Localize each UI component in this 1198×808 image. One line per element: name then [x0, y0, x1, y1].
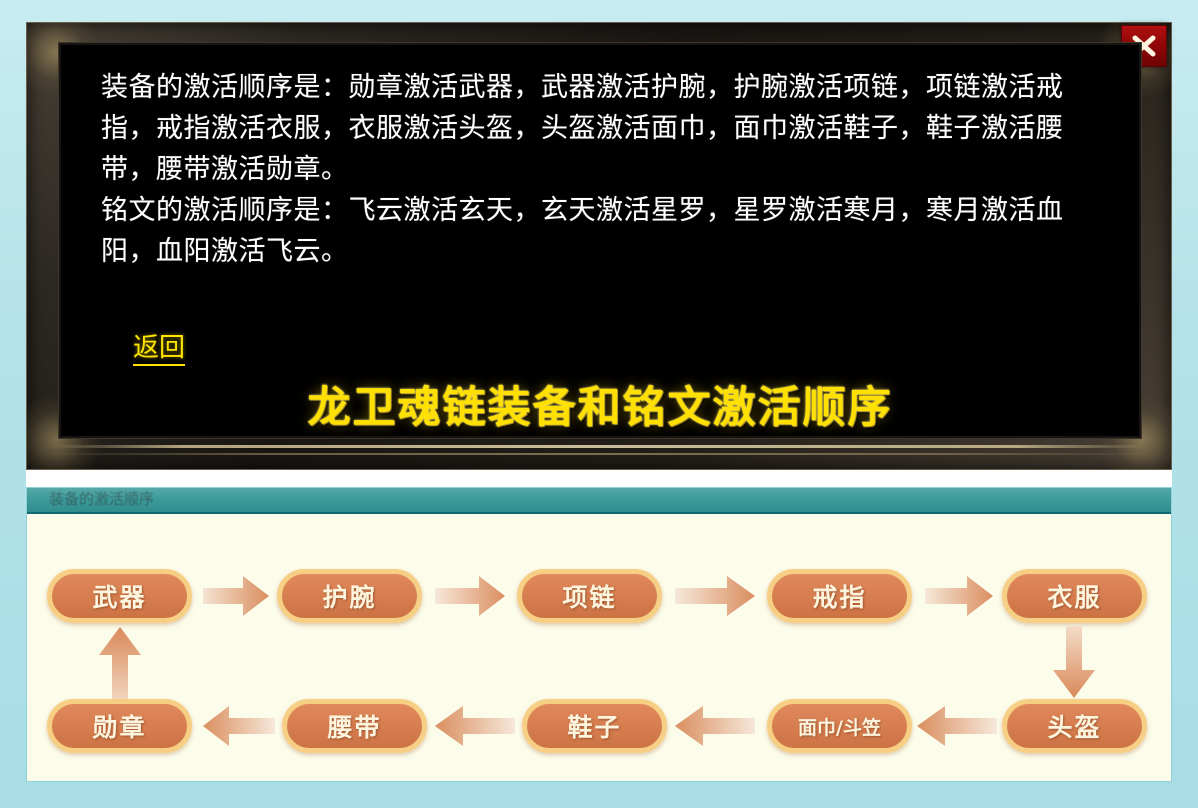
diagram-titlebar: 装备的激活顺序 — [27, 488, 1172, 514]
diagram-titlebar-label: 装备的激活顺序 — [49, 488, 154, 510]
page-title: 龙卫魂链装备和铭文激活顺序 — [61, 373, 1139, 435]
info-text-block: 装备的激活顺序是：勋章激活武器，武器激活护腕，护腕激活项链，项链激活戒指，戒指激… — [101, 67, 1111, 272]
node-bracer[interactable]: 护腕 — [277, 569, 422, 623]
gold-divider-line-secondary — [41, 453, 1157, 455]
return-link[interactable]: 返回 — [133, 333, 185, 366]
node-belt[interactable]: 腰带 — [282, 699, 427, 753]
arrow-clothes-to-helmet — [1053, 626, 1095, 698]
panel-separator — [26, 470, 1172, 487]
gold-divider-line — [51, 445, 1147, 448]
game-info-window: 装备的激活顺序是：勋章激活武器，武器激活护腕，护腕激活项链，项链激活戒指，戒指激… — [26, 22, 1172, 470]
node-shoes[interactable]: 鞋子 — [522, 699, 667, 753]
arrow-weapon-to-bracer — [203, 576, 269, 616]
node-weapon[interactable]: 武器 — [47, 569, 192, 623]
arrow-helmet-to-mask — [917, 706, 997, 746]
node-necklace[interactable]: 项链 — [517, 569, 662, 623]
node-helmet[interactable]: 头盔 — [1002, 699, 1147, 753]
page-root: 装备的激活顺序是：勋章激活武器，武器激活护腕，护腕激活项链，项链激活戒指，戒指激… — [0, 0, 1198, 808]
flow-diagram-window: 装备的激活顺序 武器 护腕 项链 戒指 衣服 勋章 腰带 鞋子 面巾/斗笠 头盔 — [26, 487, 1172, 782]
arrow-ring-to-clothes — [925, 576, 993, 616]
content-board: 装备的激活顺序是：勋章激活武器，武器激活护腕，护腕激活项链，项链激活戒指，戒指激… — [59, 43, 1141, 438]
arrow-mask-to-shoes — [675, 706, 755, 746]
node-mask[interactable]: 面巾/斗笠 — [767, 699, 912, 753]
arrow-necklace-to-ring — [675, 576, 755, 616]
paragraph-equipment-order: 装备的激活顺序是：勋章激活武器，武器激活护腕，护腕激活项链，项链激活戒指，戒指激… — [101, 67, 1111, 190]
node-clothes[interactable]: 衣服 — [1002, 569, 1147, 623]
arrow-belt-to-medal — [203, 706, 275, 746]
paragraph-inscription-order: 铭文的激活顺序是：飞云激活玄天，玄天激活星罗，星罗激活寒月，寒月激活血阳，血阳激… — [101, 190, 1111, 272]
arrow-bracer-to-necklace — [435, 576, 505, 616]
node-medal[interactable]: 勋章 — [47, 699, 192, 753]
arrow-shoes-to-belt — [435, 706, 515, 746]
node-ring[interactable]: 戒指 — [767, 569, 912, 623]
diagram-canvas: 武器 护腕 项链 戒指 衣服 勋章 腰带 鞋子 面巾/斗笠 头盔 — [27, 514, 1172, 781]
arrow-medal-to-weapon — [99, 627, 141, 699]
